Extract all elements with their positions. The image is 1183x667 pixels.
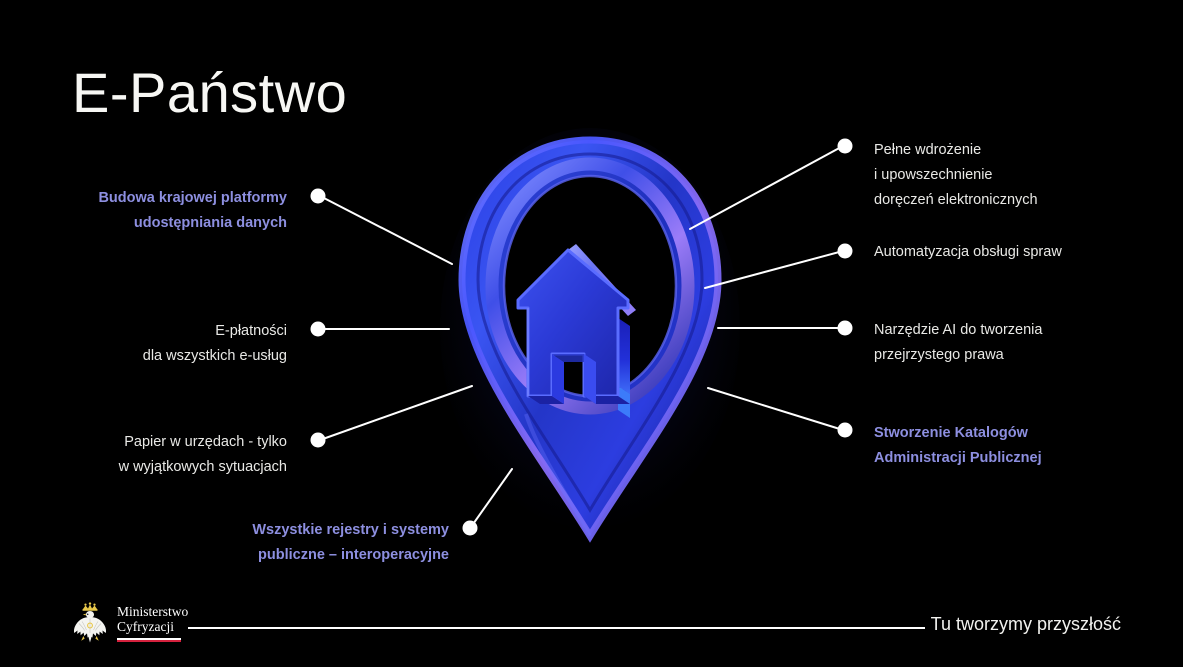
connector-dot-katalogi — [838, 423, 853, 438]
ministry-name-line1: Ministerstwo — [117, 604, 188, 619]
connector-dot-doreczenia — [838, 139, 853, 154]
location-pin-house-3d-icon — [440, 128, 740, 548]
ministry-name: Ministerstwo Cyfryzacji — [117, 604, 188, 642]
polish-eagle-emblem-icon — [70, 600, 110, 646]
callout-label-papier-w-urzedach: Papier w urzędach - tylko w wyjątkowych … — [119, 430, 287, 480]
connector-dot-budowa-platformy — [311, 189, 326, 204]
page-title: E-Państwo — [72, 62, 347, 124]
ministry-logo: Ministerstwo Cyfryzacji — [70, 600, 188, 646]
callout-label-budowa-platformy: Budowa krajowej platformy udostępniania … — [98, 186, 287, 236]
ministry-name-line2: Cyfryzacji — [117, 619, 188, 634]
connector-line-budowa-platformy — [320, 196, 452, 264]
callout-label-katalogi-administracji: Stworzenie Katalogów Administracji Publi… — [874, 421, 1042, 471]
connector-dot-papier-w-urzedach — [311, 433, 326, 448]
connector-dot-e-platnosci — [311, 322, 326, 337]
callout-label-narzedzie-ai: Narzędzie AI do tworzenia przejrzystego … — [874, 318, 1042, 368]
connector-dot-narzedzie-ai — [838, 321, 853, 336]
footer-tagline: Tu tworzymy przyszłość — [931, 614, 1121, 635]
flag-bar — [117, 638, 181, 642]
callout-label-rejestry-interoperacyjne: Wszystkie rejestry i systemy publiczne –… — [252, 518, 449, 568]
footer-divider — [188, 627, 925, 629]
callout-label-e-platnosci: E-płatności dla wszystkich e-usług — [143, 319, 287, 369]
connector-dot-automatyzacja — [838, 244, 853, 259]
callout-label-doreczenia-elektroniczne: Pełne wdrożenie i upowszechnienie doręcz… — [874, 138, 1038, 213]
callout-label-automatyzacja-spraw: Automatyzacja obsługi spraw — [874, 240, 1062, 265]
slide-root: E-Państwo — [0, 0, 1183, 667]
